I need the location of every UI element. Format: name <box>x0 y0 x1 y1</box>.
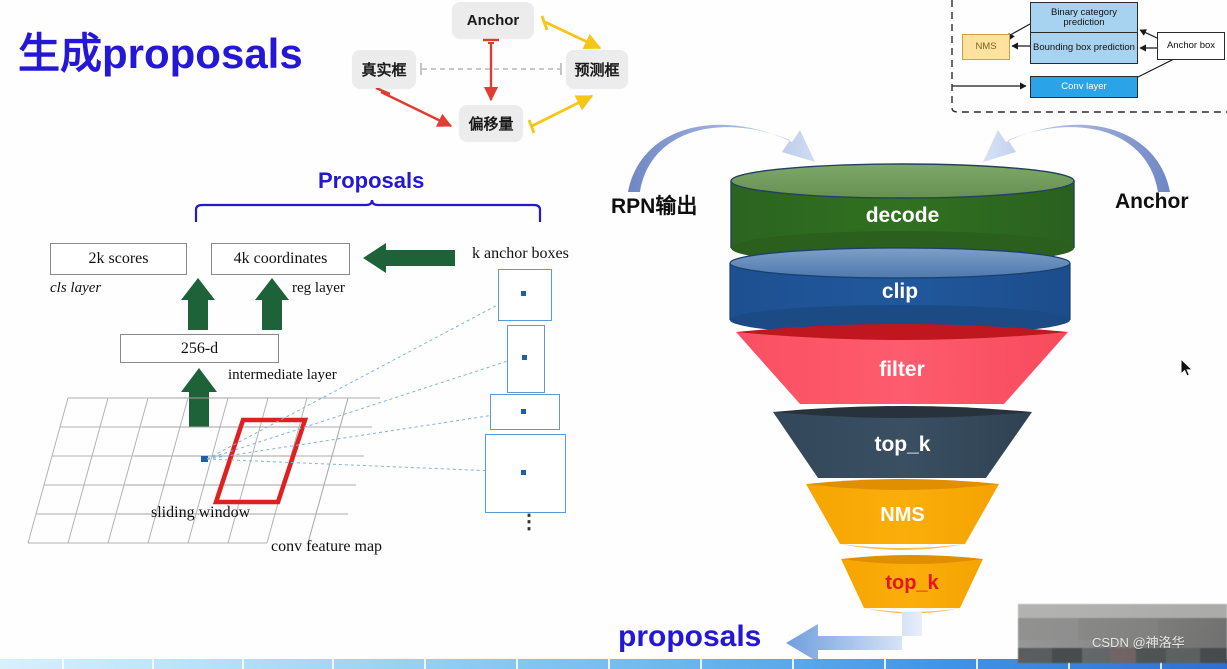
csdn-watermark: CSDN @神洛华 <box>1092 632 1185 651</box>
funnel-stage-label-decode: decode <box>731 204 1074 228</box>
green-arrow-anchor <box>363 243 455 273</box>
reg-output-box: 4k coordinates <box>211 243 350 275</box>
funnel-output-label: proposals <box>618 620 761 654</box>
strip-divider <box>62 659 64 669</box>
strip-divider <box>792 659 794 669</box>
funnel-input-right-label: Anchor <box>1115 190 1189 214</box>
relation-box-prediction: 预测框 <box>566 50 628 88</box>
strip-divider <box>516 659 518 669</box>
funnel-arrow-right <box>983 125 1170 192</box>
page-title: 生成proposals <box>18 20 303 81</box>
strip-divider <box>424 659 426 669</box>
mini-nms-box: NMS <box>962 34 1010 60</box>
arrow-anchor-to-pred <box>545 22 600 48</box>
anchor-boxes-ellipsis: ⋮ <box>519 518 539 527</box>
proposals-brace <box>196 200 540 222</box>
intermediate-vector-box: 256-d <box>120 334 279 363</box>
funnel-input-left-label: RPN输出 <box>611 190 697 220</box>
reg-layer-label: reg layer <box>292 280 345 297</box>
strip-divider <box>242 659 244 669</box>
mini-binary-category-prediction-box: Binary category prediction <box>1030 2 1138 34</box>
funnel-output-arrow <box>786 612 922 662</box>
k-anchor-boxes-label: k anchor boxes <box>472 245 569 263</box>
cls-output-box: 2k scores <box>50 243 187 275</box>
anchor-box-4-center <box>521 470 526 475</box>
strip-divider <box>884 659 886 669</box>
cls-layer-label: cls layer <box>50 280 101 297</box>
anchor-box-1-center <box>521 291 526 296</box>
arrow-offset-to-pred <box>532 96 592 126</box>
mouse-cursor <box>1180 358 1194 378</box>
intermediate-layer-label: intermediate layer <box>228 367 337 384</box>
funnel-stage-label-filter: filter <box>740 358 1064 382</box>
proposals-heading: Proposals <box>318 168 424 194</box>
green-arrow-intermediate <box>181 368 217 427</box>
arrow-gt-to-offset <box>381 92 451 126</box>
slide-canvas: 生成proposals <box>0 0 1227 669</box>
funnel-stage-label-topk-1: top_k <box>775 433 1030 457</box>
green-arrow-reg <box>255 278 289 330</box>
anchor-box-2-center <box>522 355 527 360</box>
sliding-window-label: sliding window <box>151 504 250 522</box>
strip-divider <box>608 659 610 669</box>
strip-divider <box>976 659 978 669</box>
conv-feature-map-label: conv feature map <box>271 538 382 556</box>
mini-anchor-box: Anchor box <box>1157 32 1225 60</box>
mini-bounding-box-prediction-box: Bounding box prediction <box>1030 32 1138 64</box>
funnel-stage-label-clip: clip <box>730 280 1070 304</box>
anchor-box-3-center <box>521 409 526 414</box>
relation-box-offset: 偏移量 <box>459 105 523 141</box>
strip-divider <box>152 659 154 669</box>
sliding-window-box <box>216 420 305 502</box>
sliding-window-center-dot <box>201 456 208 462</box>
strip-divider <box>700 659 702 669</box>
funnel-arrow-left <box>628 125 815 192</box>
relation-box-ground-truth: 真实框 <box>352 50 416 88</box>
strip-divider <box>332 659 334 669</box>
funnel-stage-label-nms: NMS <box>806 504 999 527</box>
green-arrow-cls <box>181 278 215 330</box>
mini-conv-layer-box: Conv layer <box>1030 76 1138 98</box>
relation-box-anchor: Anchor <box>452 2 534 38</box>
funnel-stage-label-topk-2: top_k <box>841 572 983 595</box>
